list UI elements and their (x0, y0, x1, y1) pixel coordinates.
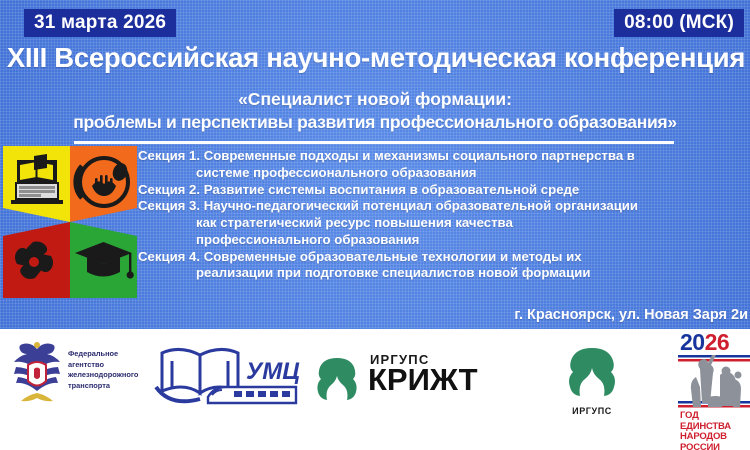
train-icon (208, 387, 296, 403)
krizht-name: КРИЖТ (368, 364, 478, 395)
section-item: Секция 3. Научно-педагогический потенциа… (138, 198, 750, 248)
hands-circle-icon (3, 222, 70, 298)
motto-line-4: РОССИИ (680, 443, 731, 450)
date-badge: 31 марта 2026 (24, 9, 176, 37)
rail-clamp-icon (312, 355, 362, 403)
monument-figures-icon (682, 355, 750, 411)
page-title: XIII Всероссийская научно-методическая к… (0, 44, 750, 73)
logo-strip: Федеральное агентство железнодорожного т… (0, 329, 750, 450)
open-book-train-icon: УМЦ ЖДТ (150, 335, 302, 413)
section-item: Секция 4. Современные образовательные те… (138, 249, 750, 283)
section-continuation-2: профессионального образования (138, 232, 750, 249)
rail-clamp-icon (562, 345, 622, 399)
graduation-cap-icon (70, 222, 137, 298)
irgups-caption: ИРГУПС (552, 406, 632, 416)
year-2026-unity-logo: 2026 ГОД ЕДИНСТВА НАРОДОВ РОССИИ (678, 329, 750, 449)
umc-name-text: УМЦ ЖДТ (246, 358, 302, 385)
subtitle-line-2: проблемы и перспективы развития професси… (0, 111, 750, 134)
section-continuation: как стратегический ресурс повышения каче… (138, 215, 750, 232)
section-continuation: реализации при подготовке специалистов н… (138, 265, 750, 282)
year-number: 2026 (680, 331, 729, 354)
venue-address: г. Красноярск, ул. Новая Заря 2и (514, 307, 748, 323)
unity-motto: ГОД ЕДИНСТВА НАРОДОВ РОССИИ (680, 411, 731, 450)
sections-list: Секция 1. Современные подходы и механизм… (138, 148, 750, 282)
conference-subtitle: «Специалист новой формации: проблемы и п… (0, 88, 750, 134)
section-label: Секция 3. Научно-педагогический потенциа… (138, 198, 638, 213)
theme-icon-block (3, 146, 137, 298)
section-item: Секция 2. Развитие системы воспитания в … (138, 182, 750, 199)
umc-zhdt-logo: УМЦ ЖДТ (150, 335, 302, 413)
divider (74, 141, 674, 144)
conference-poster: 31 марта 2026 08:00 (МСК) XIII Всероссий… (0, 0, 750, 450)
irgups-krizht-logo: ИРГУПС КРИЖТ (312, 351, 512, 407)
time-badge: 08:00 (МСК) (614, 9, 744, 37)
section-continuation: системе профессионального образования (138, 165, 750, 182)
double-headed-eagle-icon (8, 339, 66, 405)
section-label: Секция 2. Развитие системы воспитания в … (138, 182, 579, 197)
year-first-half: 20 (680, 329, 705, 355)
irgups-logo: ИРГУПС (552, 345, 632, 417)
year-second-half: 26 (705, 329, 730, 355)
section-label: Секция 1. Современные подходы и механизм… (138, 148, 635, 163)
federal-railway-agency-logo: Федеральное агентство железнодорожного т… (8, 337, 168, 409)
subtitle-line-1: «Специалист новой формации: (0, 88, 750, 111)
section-item: Секция 1. Современные подходы и механизм… (138, 148, 750, 182)
section-label: Секция 4. Современные образовательные те… (138, 249, 582, 264)
handshake-circle-icon (70, 146, 137, 222)
laptop-book-icon (3, 146, 70, 222)
